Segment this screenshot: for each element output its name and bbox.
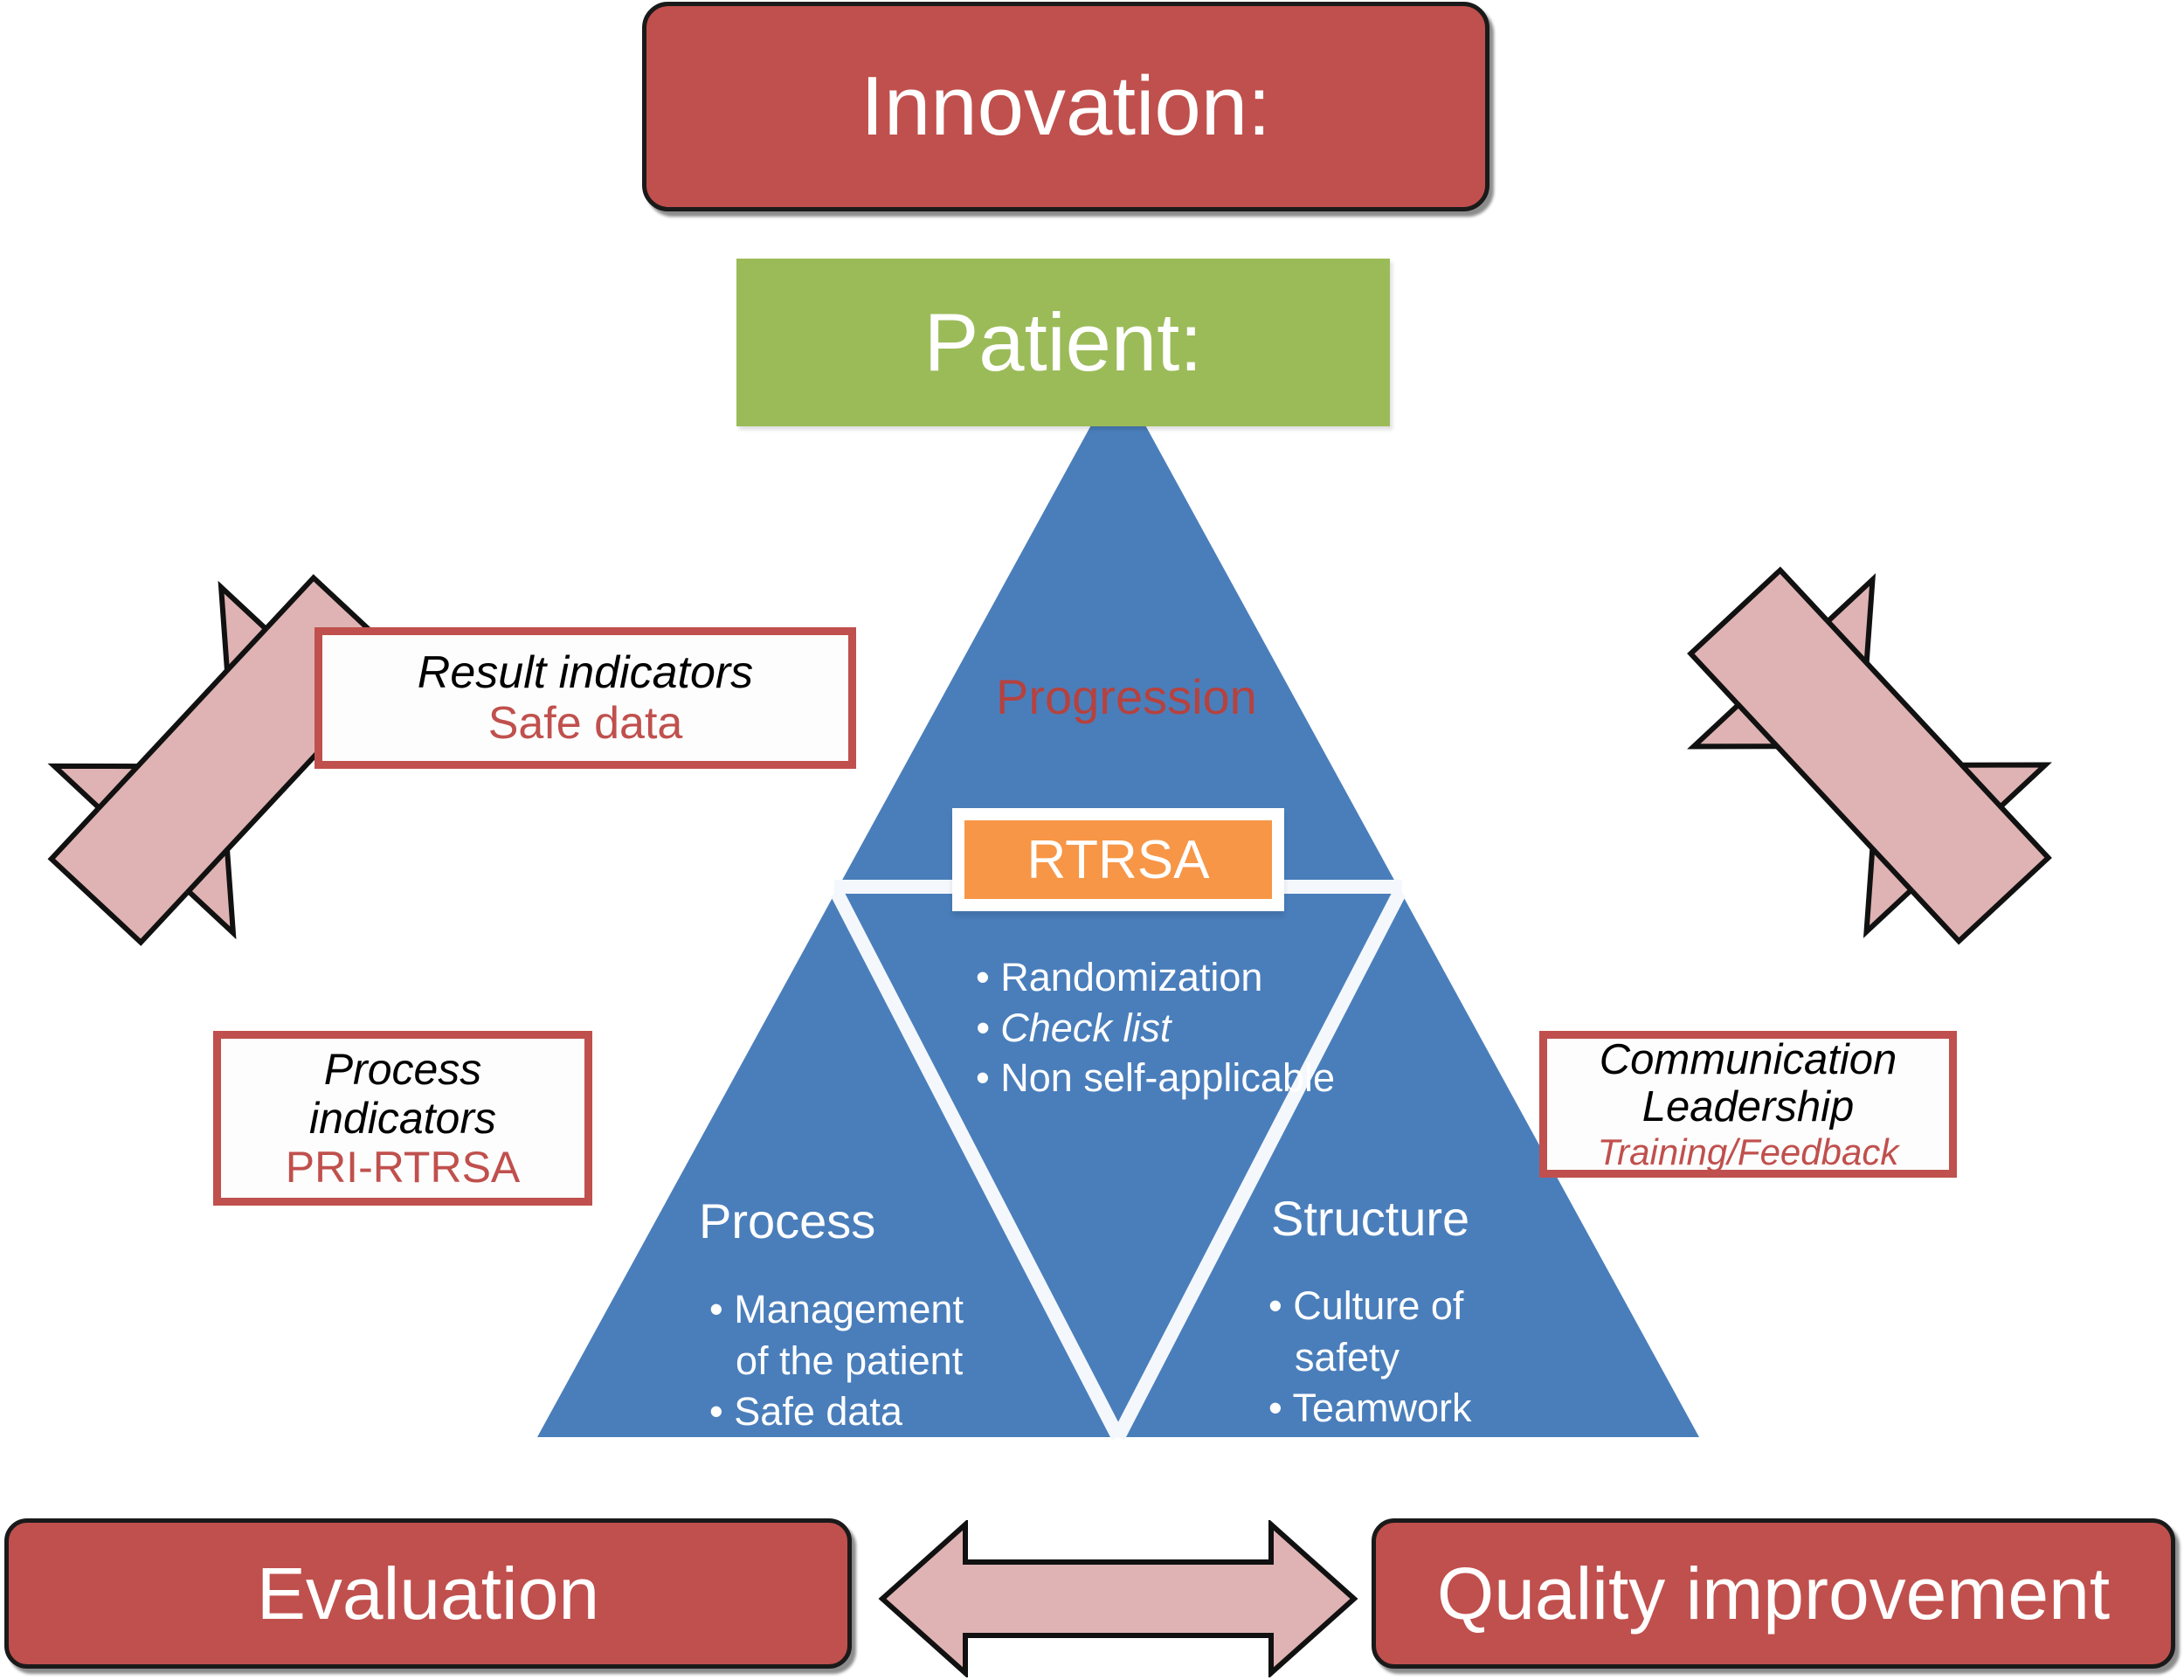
quality-improvement-banner: Quality improvement	[1372, 1518, 2175, 1669]
result-indicators-callout: Result indicators Safe data	[314, 627, 856, 769]
innovation-banner: Innovation:	[642, 2, 1489, 211]
center-bullet-list: • Randomization • Check list • Non self-…	[976, 952, 1335, 1103]
evaluation-label: Evaluation	[257, 1552, 599, 1636]
process-bullet-list: • Management of the patient • Safe data	[709, 1284, 998, 1438]
patient-label: Patient:	[924, 295, 1203, 390]
list-item: • Check list	[976, 1003, 1335, 1054]
bullet-glyph: •	[709, 1389, 723, 1434]
quality-improvement-label: Quality improvement	[1437, 1552, 2110, 1636]
communication-title-line1: Communication	[1600, 1036, 1897, 1084]
structure-bullet-list: • Culture of safety • Teamwork	[1268, 1281, 1531, 1435]
list-item: • Randomization	[976, 952, 1335, 1003]
bullet-glyph: •	[976, 1006, 990, 1050]
bullet-glyph: •	[976, 955, 990, 999]
process-indicators-title-line2: indicators	[309, 1094, 496, 1143]
rtrsa-chip: RTRSA	[952, 808, 1284, 911]
process-section-title: Process	[699, 1193, 875, 1249]
process-indicators-title-line1: Process	[324, 1045, 482, 1094]
communication-sub: Training/Feedback	[1598, 1131, 1899, 1172]
center-double-arrow-icon	[874, 1520, 1363, 1677]
result-indicators-title: Result indicators	[418, 647, 753, 698]
result-indicators-sub: Safe data	[488, 698, 683, 749]
bullet-glyph: •	[976, 1055, 990, 1100]
rtrsa-label: RTRSA	[1026, 829, 1209, 891]
structure-section-title: Structure	[1271, 1190, 1469, 1247]
patient-banner: Patient:	[736, 259, 1390, 426]
quality-triangle	[524, 376, 1712, 1450]
list-item: • Culture of safety	[1268, 1281, 1531, 1383]
communication-title-line2: Leadership	[1642, 1083, 1854, 1131]
list-item: • Non self-applicable	[976, 1053, 1335, 1103]
innovation-label: Innovation:	[860, 59, 1271, 155]
bullet-glyph: •	[709, 1287, 723, 1331]
bullet-glyph: •	[1268, 1283, 1282, 1328]
list-item: • Teamwork	[1268, 1383, 1531, 1435]
evaluation-banner: Evaluation	[4, 1518, 852, 1669]
process-indicators-callout: Process indicators PRI-RTRSA	[213, 1031, 592, 1206]
bullet-glyph: •	[1268, 1386, 1282, 1430]
progression-label: Progression	[996, 668, 1257, 725]
diagram-canvas: Innovation: Patient: Progression RTRSA •…	[0, 0, 2184, 1680]
list-item: • Management of the patient	[709, 1284, 998, 1386]
list-item: • Safe data	[709, 1386, 998, 1438]
process-indicators-sub: PRI-RTRSA	[286, 1143, 521, 1192]
communication-callout: Communication Leadership Training/Feedba…	[1539, 1031, 1957, 1178]
